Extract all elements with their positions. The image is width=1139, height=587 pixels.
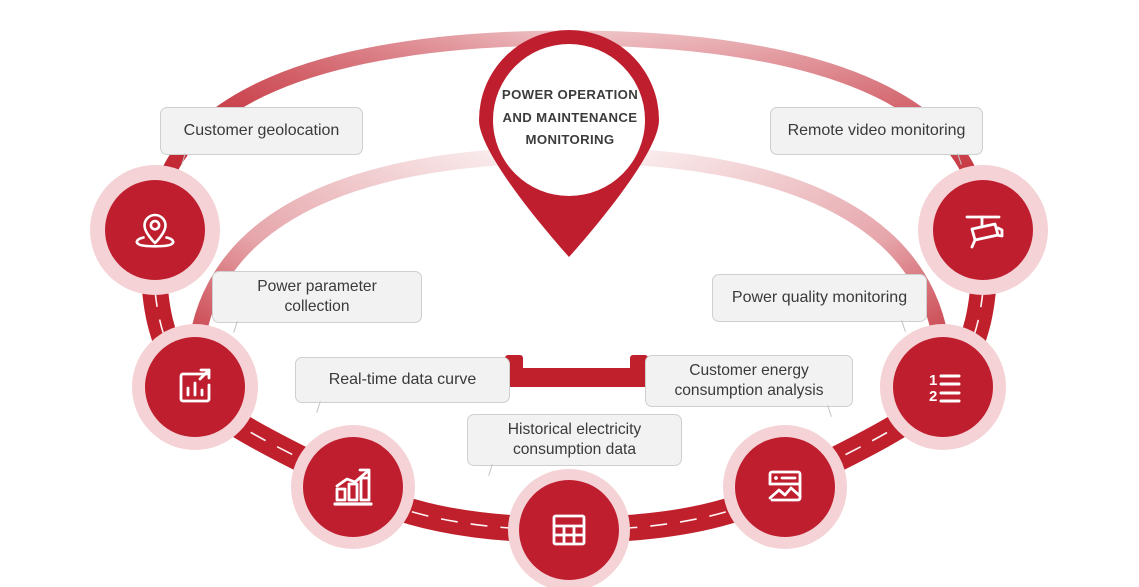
- label-customer-energy-consumption-analysis-text: Customer energy consumption analysis: [674, 361, 823, 402]
- numbered-list-icon: 1 2: [917, 361, 969, 413]
- label-historical-electricity-consumption-data[interactable]: Historical electricity consumption data: [467, 414, 682, 466]
- node-power-parameter-collection[interactable]: [145, 337, 245, 437]
- infographic-canvas: POWER OPERATION AND MAINTENANCE MONITORI…: [0, 0, 1139, 587]
- growth-chart-icon: [325, 459, 381, 515]
- svg-text:1: 1: [929, 372, 937, 389]
- cctv-camera-icon: [955, 202, 1011, 258]
- label-real-time-data-curve[interactable]: Real-time data curve: [295, 357, 510, 403]
- label-remote-video-monitoring-text: Remote video monitoring: [788, 121, 966, 142]
- label-remote-video-monitoring[interactable]: Remote video monitoring: [770, 107, 983, 155]
- svg-text:2: 2: [929, 388, 937, 405]
- label-power-quality-monitoring-text: Power quality monitoring: [732, 288, 907, 309]
- label-customer-energy-consumption-analysis[interactable]: Customer energy consumption analysis: [645, 355, 853, 407]
- node-power-quality-monitoring[interactable]: 1 2: [893, 337, 993, 437]
- label-customer-geolocation[interactable]: Customer geolocation: [160, 107, 363, 155]
- map-pin-location-icon: [128, 203, 182, 257]
- label-customer-geolocation-text: Customer geolocation: [184, 121, 340, 142]
- node-historical-electricity-consumption-data[interactable]: [519, 480, 619, 580]
- bar-chart-export-icon: [169, 361, 221, 413]
- label-historical-electricity-consumption-data-text: Historical electricity consumption data: [508, 420, 641, 461]
- window-line-chart-icon: [758, 460, 812, 514]
- label-power-quality-monitoring[interactable]: Power quality monitoring: [712, 274, 927, 322]
- table-grid-icon: [543, 504, 595, 556]
- node-remote-video-monitoring[interactable]: [933, 180, 1033, 280]
- label-real-time-data-curve-text: Real-time data curve: [329, 370, 477, 391]
- label-power-parameter-collection-text: Power parameter collection: [257, 277, 377, 318]
- center-pin-shape: [479, 30, 659, 257]
- node-real-time-data-curve[interactable]: [303, 437, 403, 537]
- node-customer-geolocation[interactable]: [105, 180, 205, 280]
- label-power-parameter-collection[interactable]: Power parameter collection: [212, 271, 422, 323]
- node-customer-energy-consumption-analysis[interactable]: [735, 437, 835, 537]
